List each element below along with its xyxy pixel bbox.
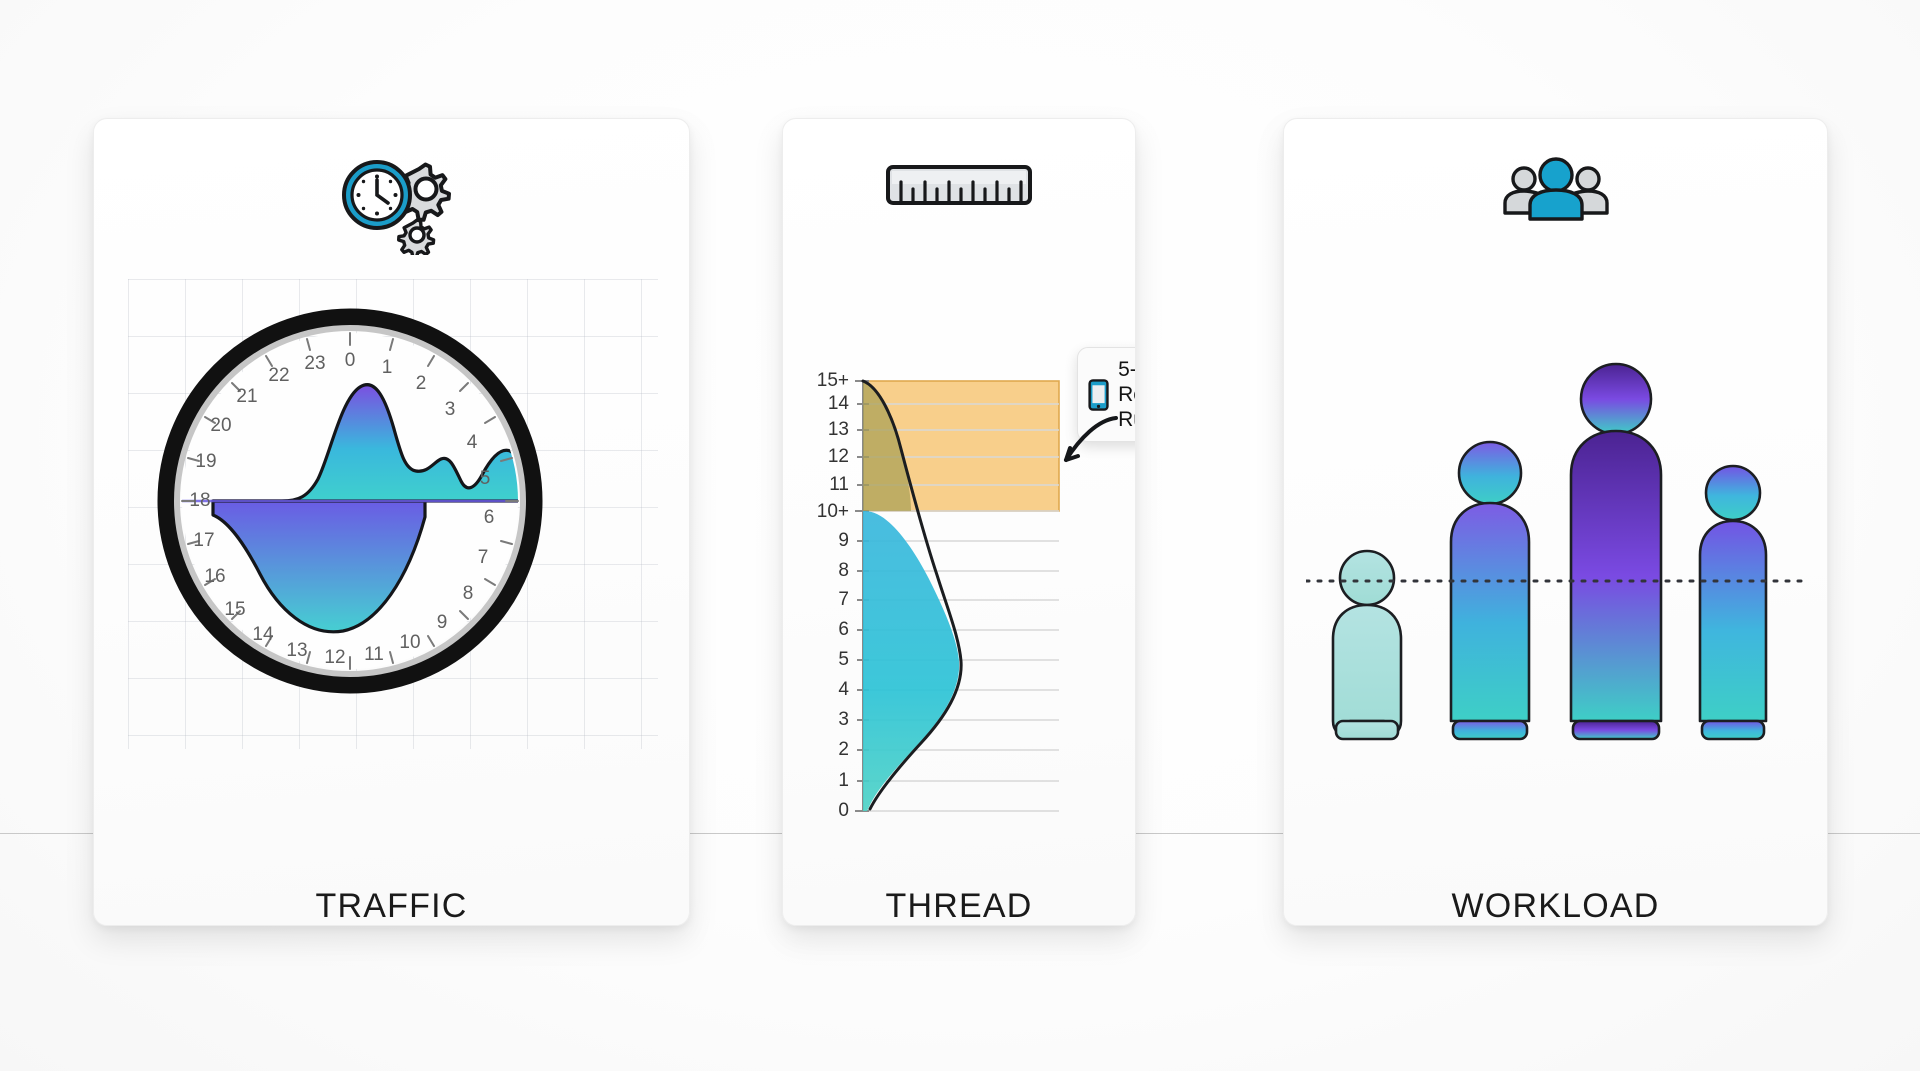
axis-tick-label: 2 — [838, 739, 849, 761]
clock-hour-label: 21 — [236, 386, 257, 408]
clock-hour-label: 11 — [364, 644, 384, 666]
clock-hour-label: 2 — [416, 373, 427, 395]
clock-hour-label: 22 — [268, 365, 289, 387]
clock-hour-label: 1 — [382, 357, 393, 379]
card-title-traffic-patterns: TRAFFIC PATTERNS — [94, 884, 689, 926]
axis-tick-label: 15+ — [817, 370, 849, 392]
axis-tick-label: 3 — [838, 709, 849, 731]
axis-tick-label: 9 — [838, 530, 849, 552]
axis-tick-label: 14 — [828, 393, 849, 415]
workload-distribution-chart — [1306, 269, 1806, 779]
clock-hour-label: 16 — [204, 566, 225, 588]
card-title-line1: WORKLOAD — [1452, 887, 1660, 925]
ruler-icon — [885, 157, 1033, 213]
clock-hour-label: 20 — [210, 415, 231, 437]
clock-hour-label: 13 — [286, 640, 307, 662]
workload-svg — [1306, 269, 1806, 779]
people-group-icon-wrap — [1284, 157, 1827, 223]
clock-hour-label: 3 — [445, 399, 456, 421]
card-title-workload-distribution: WORKLOAD DISTRIBUTION — [1284, 884, 1827, 926]
card-thread-length[interactable]: 15+ 14 13 12 11 10+ 9 8 7 6 5 4 3 2 1 0 — [782, 118, 1136, 926]
axis-tick-label: 10+ — [817, 501, 849, 523]
clock-hour-label: 15 — [224, 599, 245, 621]
tooltip-arrow-icon — [1036, 412, 1122, 482]
clock-gears-icon-wrap — [94, 147, 689, 255]
axis-tick-label: 12 — [828, 446, 849, 468]
axis-tick-label: 13 — [828, 419, 849, 441]
card-title-thread-length: THREAD LENGTH — [783, 884, 1135, 926]
clock-hour-label: 23 — [304, 353, 325, 375]
clock-hour-label: 9 — [437, 612, 448, 634]
clock-gears-icon — [333, 147, 451, 255]
clock-hour-label: 0 — [345, 350, 356, 372]
axis-tick-label: 6 — [838, 619, 849, 641]
clock-hour-label: 17 — [193, 530, 214, 552]
people-group-icon — [1500, 157, 1612, 223]
clock-hour-label: 10 — [399, 632, 420, 654]
axis-tick-label: 7 — [838, 589, 849, 611]
card-workload-distribution[interactable]: WORKLOAD DISTRIBUTION — [1283, 118, 1828, 926]
axis-tick-label: 0 — [838, 800, 849, 822]
card-traffic-patterns[interactable]: 0 1 2 3 4 5 6 7 8 9 10 11 12 13 14 15 16… — [93, 118, 690, 926]
card-row: 0 1 2 3 4 5 6 7 8 9 10 11 12 13 14 15 16… — [0, 0, 1920, 1071]
card-title-line1: TRAFFIC — [316, 887, 468, 925]
axis-tick-label: 8 — [838, 560, 849, 582]
clock-hour-label: 6 — [484, 507, 495, 529]
clock-hour-label: 18 — [189, 490, 210, 512]
clock-hour-label: 14 — [252, 624, 273, 646]
axis-tick-label: 11 — [829, 474, 849, 496]
mobile-phone-icon — [1088, 375, 1109, 415]
thread-length-axis-labels: 15+ 14 13 12 11 10+ 9 8 7 6 5 4 3 2 1 0 — [791, 381, 849, 853]
clock-hour-label: 19 — [195, 451, 216, 473]
card-title-line1: THREAD — [886, 887, 1033, 925]
clock-hour-label: 5 — [480, 468, 491, 490]
traffic-clock-chart: 0 1 2 3 4 5 6 7 8 9 10 11 12 13 14 15 16… — [128, 279, 658, 749]
axis-tick-label: 5 — [838, 649, 849, 671]
clock-hour-label: 7 — [478, 547, 489, 569]
clock-hour-label: 12 — [324, 647, 345, 669]
ruler-icon-wrap — [783, 157, 1135, 213]
clock-hour-label: 4 — [467, 432, 478, 454]
traffic-clock-svg — [128, 279, 658, 749]
axis-tick-label: 4 — [838, 679, 849, 701]
clock-hour-label: 8 — [463, 583, 474, 605]
axis-tick-label: 1 — [838, 770, 849, 792]
